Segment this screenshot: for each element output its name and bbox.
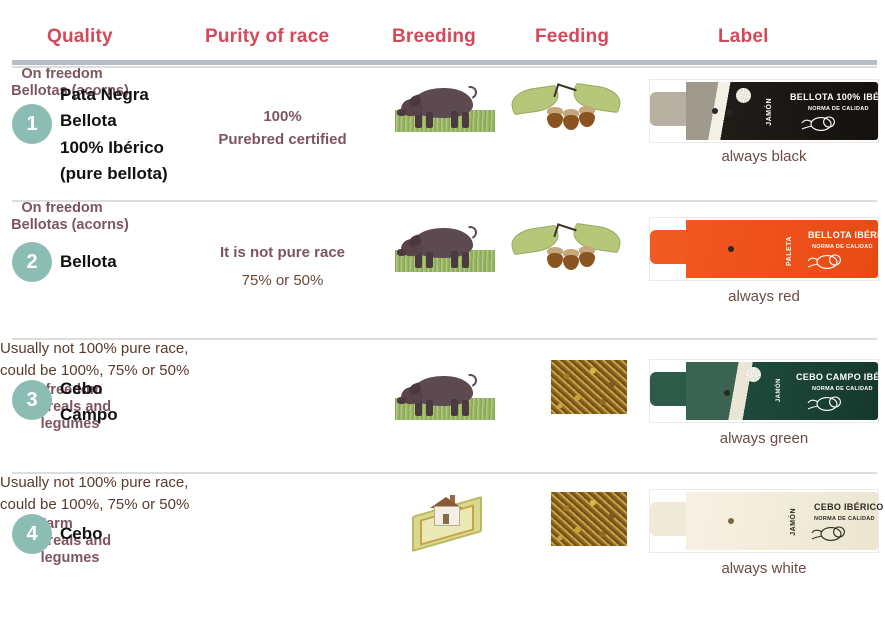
purity-secondary-text: 75% or 50%	[190, 270, 375, 293]
row-number-badge: 3	[12, 380, 52, 420]
purity-cell: It is not pure race 75% or 50%	[190, 242, 375, 292]
label-vertical-text: JAMÓN	[776, 378, 782, 402]
breeding-caption: On freedom	[0, 66, 124, 83]
column-header-feeding: Feeding	[535, 26, 609, 48]
column-header-label: Label	[718, 26, 769, 48]
ham-outline-icon	[806, 394, 842, 412]
label-brand-text: BELLOTA 100% IBÉRICO	[790, 92, 885, 102]
acorn-icon	[505, 222, 625, 270]
pig-icon	[393, 222, 497, 272]
label-brand-text: CEBO CAMPO IBÉRICO	[796, 372, 885, 382]
farm-icon	[410, 492, 482, 544]
pig-icon	[393, 370, 497, 420]
quality-name: Cebo Campo	[60, 376, 118, 429]
label-caption: always black	[650, 148, 878, 165]
ham-label-green: JAMÓN CEBO CAMPO IBÉRICO NORMA DE CALIDA…	[650, 360, 878, 422]
label-sub-text: NORMA DE CALIDAD	[808, 106, 869, 112]
label-sub-text: NORMA DE CALIDAD	[812, 244, 873, 250]
label-brand-text: BELLOTA IBÉRICO	[808, 230, 885, 240]
table-header: Quality Purity of race Breeding Feeding …	[0, 0, 885, 56]
table-row: 4 Cebo Usually not 100% pure race, could…	[0, 472, 885, 612]
purity-cell: Usually not 100% pure race, could be 100…	[0, 472, 235, 516]
row-number-badge: 4	[12, 514, 52, 554]
row-divider	[12, 338, 877, 340]
ham-outline-icon	[806, 252, 842, 270]
label-vertical-text: JAMÓN	[766, 98, 773, 126]
label-brand-text: CEBO IBÉRICO	[814, 502, 884, 512]
label-sub-text: NORMA DE CALIDAD	[812, 386, 873, 392]
pig-icon	[393, 82, 497, 132]
table-row: 1 Pata Negra Bellota 100% Ibérico (pure …	[0, 66, 885, 200]
purity-cell: Usually not 100% pure race, could be 100…	[0, 338, 235, 382]
purity-primary-text: 100% Purebred certified	[190, 106, 375, 151]
cereal-icon	[551, 360, 627, 414]
column-header-purity: Purity of race	[205, 26, 329, 48]
label-caption: always red	[650, 288, 878, 305]
ham-outline-icon	[800, 114, 836, 132]
breeding-caption: On freedom	[0, 200, 124, 217]
label-vertical-text: JAMÓN	[790, 508, 797, 536]
row-number-badge: 2	[12, 242, 52, 282]
acorn-icon	[505, 82, 625, 130]
label-caption: always green	[650, 430, 878, 447]
quality-name: Cebo	[60, 521, 103, 547]
header-divider	[12, 60, 877, 65]
purity-primary-text: It is not pure race	[190, 242, 375, 265]
ham-label-black: JAMÓN BELLOTA 100% IBÉRICO NORMA DE CALI…	[650, 80, 878, 142]
row-divider	[12, 200, 877, 202]
column-header-quality: Quality	[47, 26, 113, 48]
cereal-icon	[551, 492, 627, 546]
quality-name: Pata Negra Bellota 100% Ibérico (pure be…	[14, 82, 194, 187]
feeding-caption: Bellotas (acorns)	[0, 217, 140, 234]
label-vertical-text: PALETA	[786, 236, 793, 266]
label-sub-text: NORMA DE CALIDAD	[814, 516, 875, 522]
quality-name: Bellota	[60, 249, 117, 275]
table-row: 2 Bellota It is not pure race 75% or 50%…	[0, 200, 885, 338]
purity-cell: 100% Purebred certified	[190, 106, 375, 151]
ham-outline-icon	[810, 524, 846, 542]
row-divider	[12, 66, 877, 68]
ham-label-red: PALETA BELLOTA IBÉRICO NORMA DE CALIDAD	[650, 218, 878, 280]
row-divider	[12, 472, 877, 474]
iberico-quality-table: Quality Purity of race Breeding Feeding …	[0, 0, 885, 639]
ham-label-white: JAMÓN CEBO IBÉRICO NORMA DE CALIDAD	[650, 490, 878, 552]
label-caption: always white	[650, 560, 878, 577]
table-row: 3 Cebo Campo Usually not 100% pure race,…	[0, 338, 885, 472]
column-header-breeding: Breeding	[392, 26, 476, 48]
